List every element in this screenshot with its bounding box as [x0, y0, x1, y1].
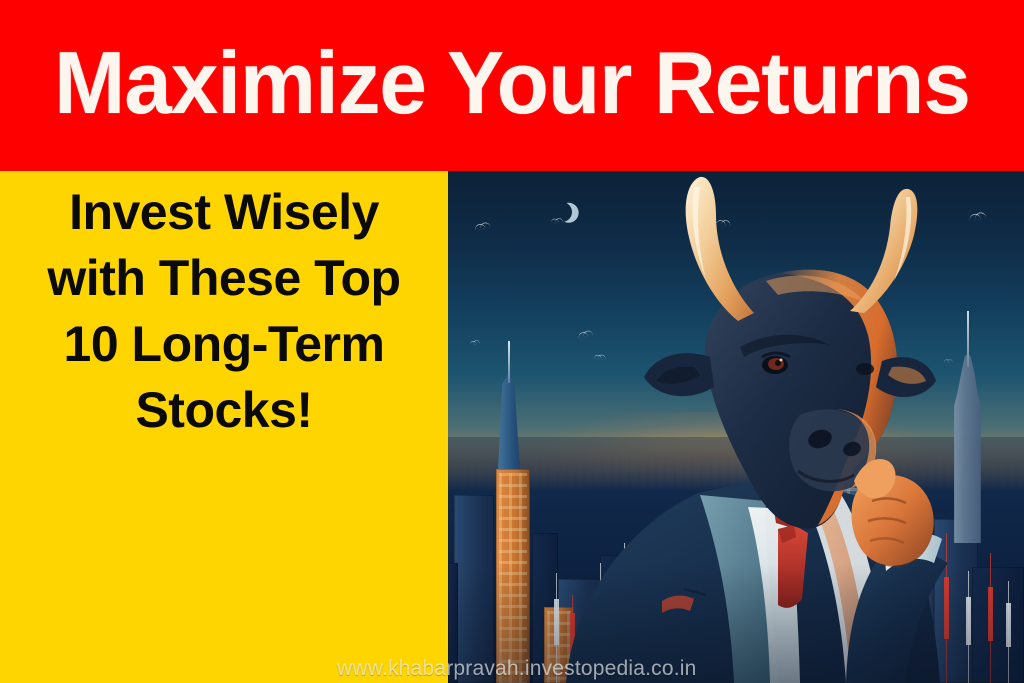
body-row: Invest Wisely with These Top 10 Long-Ter…: [0, 171, 1024, 683]
poster-canvas: Maximize Your Returns Invest Wisely with…: [0, 0, 1024, 683]
illustration-panel: [448, 171, 1024, 683]
yellow-text-panel: Invest Wisely with These Top 10 Long-Ter…: [0, 171, 448, 683]
page-title: Maximize Your Returns: [54, 39, 970, 133]
subheadline: Invest Wisely with These Top 10 Long-Ter…: [22, 179, 426, 443]
header-banner: Maximize Your Returns: [0, 0, 1024, 171]
site-watermark: www.khabarpravah.investopedia.co.in: [337, 657, 697, 681]
